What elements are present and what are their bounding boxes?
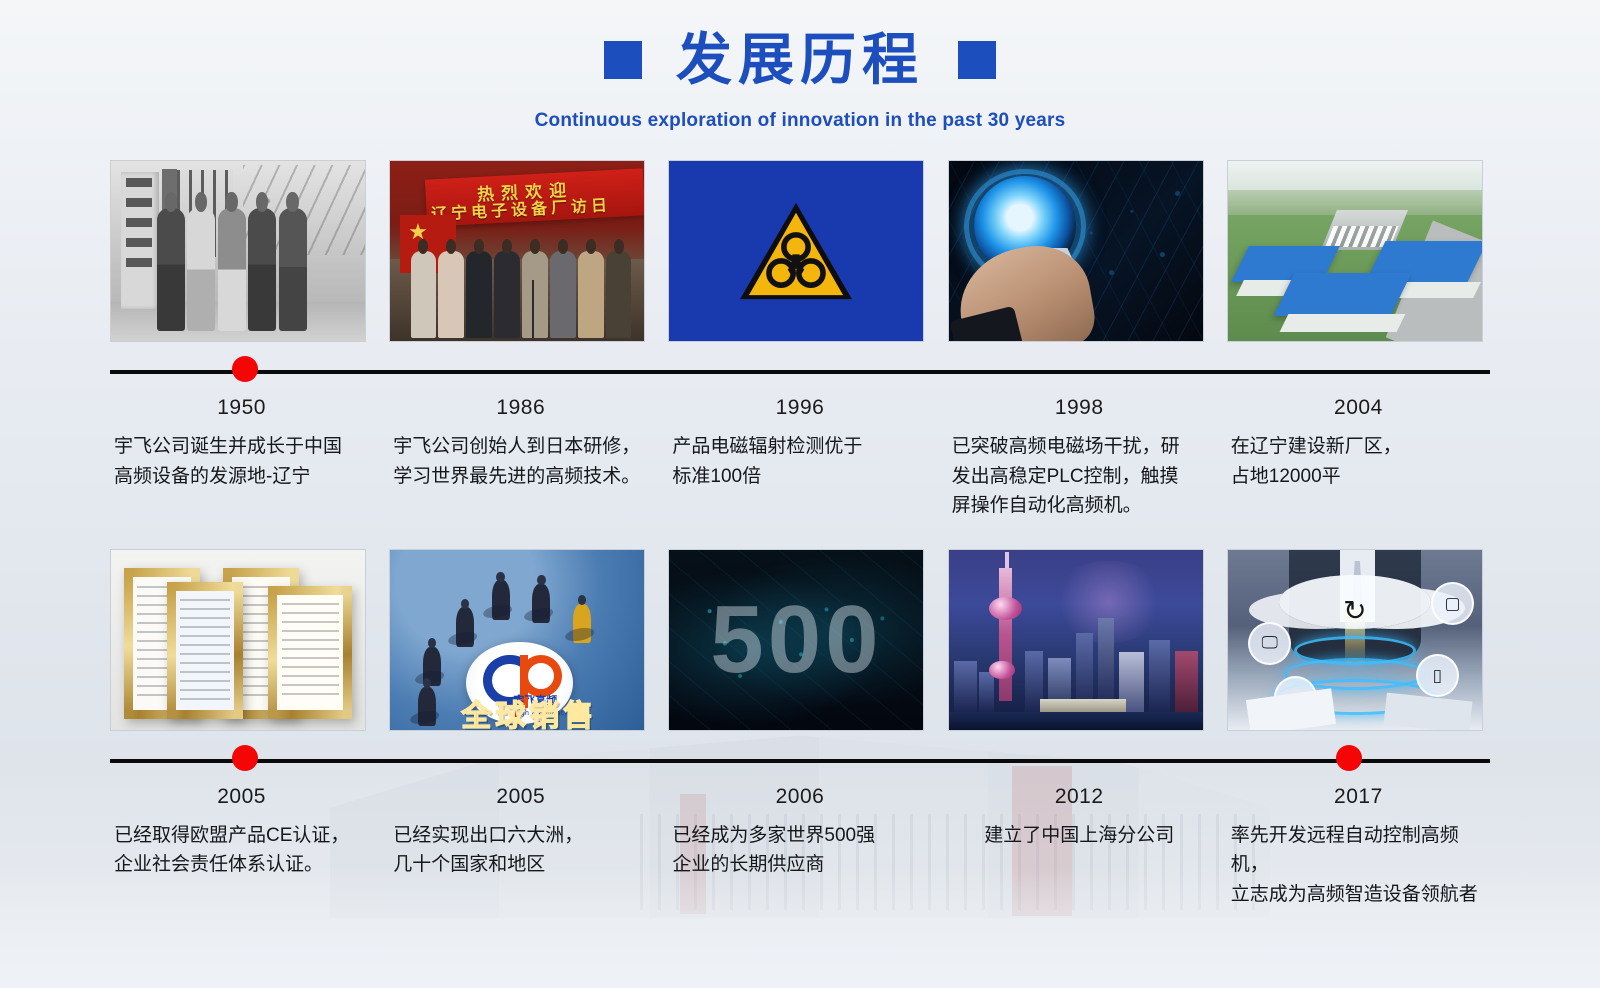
entry-description: 在辽宁建设新厂区， 占地12000平 [1227, 432, 1490, 491]
entry-description: 已经实现出口六大洲， 几十个国家和地区 [389, 821, 652, 880]
year-label: 2005 [389, 785, 652, 809]
timeline-marker-2017[interactable] [1332, 743, 1366, 777]
entry-description: 建立了中国上海分公司 [948, 821, 1211, 850]
timeline-marker-2005-b[interactable] [504, 743, 538, 777]
timeline-image-2005-certificates [110, 549, 366, 731]
timeline-row-2: 宇飞高频 High Frequency 全球销售 500 ↻ 🖵 ▭ ▯ [110, 549, 1490, 909]
timeline-thumbnails-row-1: 热烈欢迎 辽宁电子设备厂访日 [110, 160, 1490, 342]
timeline-marker-1998[interactable] [1056, 354, 1090, 388]
timeline-captions-row-1: 1950 宇飞公司诞生并成长于中国 高频设备的发源地-辽宁 1986 宇飞公司创… [110, 396, 1490, 520]
year-label: 1986 [389, 396, 652, 420]
timeline-entry-1996: 1996 产品电磁辐射检测优于 标准100倍 [668, 396, 931, 520]
timeline-entry-2005-b: 2005 已经实现出口六大洲， 几十个国家和地区 [389, 785, 652, 909]
timeline-image-1950 [110, 160, 366, 342]
phone-icon: ▯ [1416, 654, 1459, 697]
title-square-left-icon [604, 41, 642, 79]
timeline-axis-row-2 [110, 743, 1490, 777]
timeline-image-2004 [1227, 160, 1483, 342]
timeline-image-2005-global-sales: 宇飞高频 High Frequency 全球销售 [389, 549, 645, 731]
year-label: 1998 [948, 396, 1211, 420]
monitor-icon: 🖵 [1248, 622, 1291, 665]
title-square-right-icon [958, 41, 996, 79]
overlay-number-500: 500 [669, 550, 923, 730]
title-row: 发展历程 [0, 28, 1600, 92]
page-header: 发展历程 Continuous exploration of innovatio… [0, 0, 1600, 132]
timeline-image-1996 [668, 160, 924, 342]
timeline-end-arrow-icon [1479, 743, 1513, 777]
year-label: 2012 [948, 785, 1211, 809]
timeline-marker-2012[interactable] [1056, 743, 1090, 777]
page-title: 发展历程 [676, 28, 924, 92]
entry-description: 产品电磁辐射检测优于 标准100倍 [668, 432, 931, 491]
timeline-entry-1998: 1998 已突破高频电磁场干扰，研 发出高稳定PLC控制，触摸 屏操作自动化高频… [948, 396, 1211, 520]
timeline-captions-row-2: 2005 已经取得欧盟产品CE认证， 企业社会责任体系认证。 2005 已经实现… [110, 785, 1490, 909]
year-label: 1950 [110, 396, 373, 420]
timeline-marker-1996[interactable] [780, 354, 814, 388]
year-label: 2006 [668, 785, 931, 809]
timeline-entry-1986: 1986 宇飞公司创始人到日本研修， 学习世界最先进的高频技术。 [389, 396, 652, 520]
entry-description: 宇飞公司诞生并成长于中国 高频设备的发源地-辽宁 [110, 432, 373, 491]
entry-description: 已经取得欧盟产品CE认证， 企业社会责任体系认证。 [110, 821, 373, 880]
year-label: 2017 [1227, 785, 1490, 809]
timeline-image-1998 [948, 160, 1204, 342]
page-subtitle: Continuous exploration of innovation in … [0, 110, 1600, 132]
timeline-image-2012-shanghai [948, 549, 1204, 731]
timeline-entry-2012: 2012 建立了中国上海分公司 [948, 785, 1211, 909]
timeline-thumbnails-row-2: 宇飞高频 High Frequency 全球销售 500 ↻ 🖵 ▭ ▯ [110, 549, 1490, 731]
biohazard-warning-icon [737, 199, 855, 303]
timeline-entry-2004: 2004 在辽宁建设新厂区， 占地12000平 [1227, 396, 1490, 520]
timeline-image-2006-fortune500: 500 [668, 549, 924, 731]
timeline-entry-2005-a: 2005 已经取得欧盟产品CE认证， 企业社会责任体系认证。 [110, 785, 373, 909]
year-label: 1996 [668, 396, 931, 420]
timeline-marker-2004[interactable] [1332, 354, 1366, 388]
timeline-entry-1950: 1950 宇飞公司诞生并成长于中国 高频设备的发源地-辽宁 [110, 396, 373, 520]
entry-description: 已经成为多家世界500强 企业的长期供应商 [668, 821, 931, 880]
global-sales-slogan: 全球销售 [461, 691, 597, 731]
entry-description: 宇飞公司创始人到日本研修， 学习世界最先进的高频技术。 [389, 432, 652, 491]
timeline-row-1: 热烈欢迎 辽宁电子设备厂访日 [110, 160, 1490, 520]
timeline-image-2017-cloud-control: ↻ 🖵 ▭ ▯ ▢ [1227, 549, 1483, 731]
tablet-icon: ▢ [1431, 582, 1474, 625]
timeline-entry-2006: 2006 已经成为多家世界500强 企业的长期供应商 [668, 785, 931, 909]
timeline-marker-2005-a[interactable] [228, 743, 262, 777]
timeline-image-1986: 热烈欢迎 辽宁电子设备厂访日 [389, 160, 645, 342]
sync-arrow-icon: ↻ [1343, 597, 1366, 625]
entry-description: 率先开发远程自动控制高频机， 立志成为高频智造设备领航者 [1227, 821, 1490, 909]
year-label: 2005 [110, 785, 373, 809]
gate-sign-text [126, 178, 151, 279]
timeline-marker-1986[interactable] [504, 354, 538, 388]
entry-description: 已突破高频电磁场干扰，研 发出高稳定PLC控制，触摸 屏操作自动化高频机。 [948, 432, 1211, 520]
timeline-entry-2017: 2017 率先开发远程自动控制高频机， 立志成为高频智造设备领航者 [1227, 785, 1490, 909]
timeline-marker-2006[interactable] [780, 743, 814, 777]
timeline-marker-1950[interactable] [228, 354, 262, 388]
year-label: 2004 [1227, 396, 1490, 420]
timeline-axis-row-1 [110, 354, 1490, 388]
